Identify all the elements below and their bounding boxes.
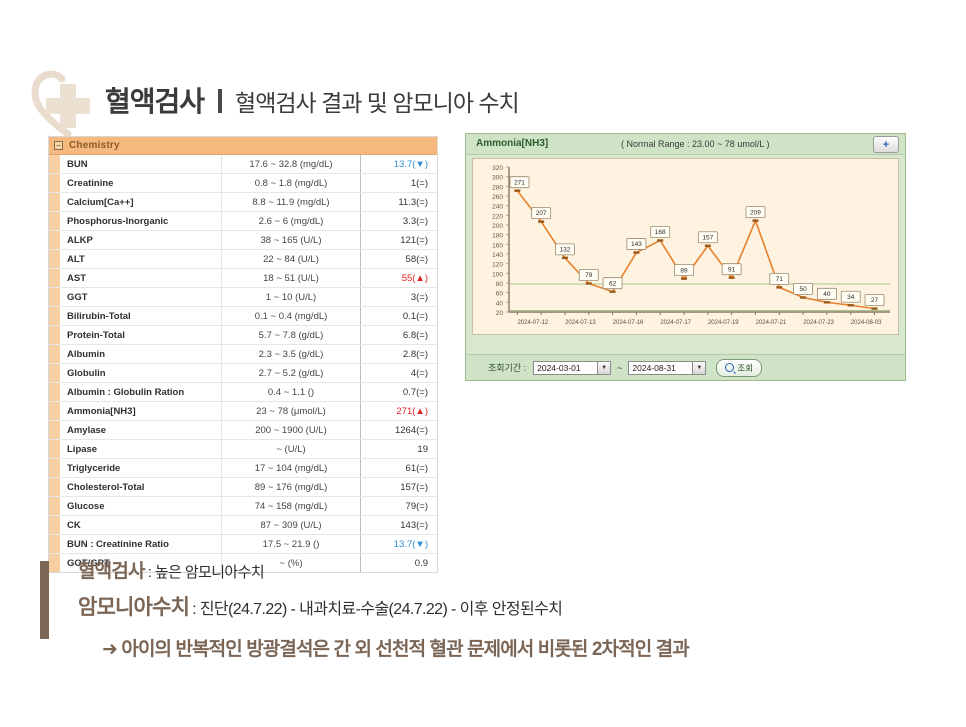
heart-cross-icon bbox=[30, 66, 106, 138]
row-indent bbox=[49, 421, 60, 439]
table-row[interactable]: Cholesterol-Total89 ~ 176 (mg/dL)157(=) bbox=[49, 478, 437, 497]
svg-text:62: 62 bbox=[609, 280, 617, 287]
svg-text:2024-07-19: 2024-07-19 bbox=[708, 320, 739, 326]
reference-range: 2.6 ~ 6 (mg/dL) bbox=[222, 212, 361, 230]
svg-text:80: 80 bbox=[496, 281, 504, 288]
test-name: Glucose bbox=[60, 497, 222, 515]
row-indent bbox=[49, 402, 60, 420]
summary-line-2: 암모니아수치 : 진단(24.7.22) - 내과치료-수술(24.7.22) … bbox=[78, 591, 562, 621]
test-value: 13.7(▼) bbox=[361, 535, 437, 553]
row-indent bbox=[49, 212, 60, 230]
page-title-main: 혈액검사 bbox=[105, 80, 204, 120]
svg-text:40: 40 bbox=[496, 300, 504, 307]
table-row[interactable]: Creatinine0.8 ~ 1.8 (mg/dL)1(=) bbox=[49, 174, 437, 193]
date-to-select[interactable]: 2024-08-31 ▼ bbox=[628, 361, 706, 375]
chart-title: Ammonia[NH3] bbox=[476, 138, 548, 149]
svg-text:120: 120 bbox=[492, 262, 503, 269]
reference-range: 2.3 ~ 3.5 (g/dL) bbox=[222, 345, 361, 363]
table-row[interactable]: BUN17.6 ~ 32.8 (mg/dL)13.7(▼) bbox=[49, 155, 437, 174]
test-value: 6.8(=) bbox=[361, 326, 437, 344]
svg-text:2024-07-23: 2024-07-23 bbox=[803, 320, 834, 326]
test-value: 13.7(▼) bbox=[361, 155, 437, 173]
test-value: 1(=) bbox=[361, 174, 437, 192]
period-label: 조회기간 : bbox=[488, 361, 526, 374]
svg-text:79: 79 bbox=[585, 272, 593, 279]
ammonia-line-chart: 2040608010012014016018020022024026028030… bbox=[473, 159, 898, 334]
svg-text:20: 20 bbox=[496, 310, 504, 317]
table-row[interactable]: Albumin : Globulin Ration0.4 ~ 1.1 ()0.7… bbox=[49, 383, 437, 402]
table-row[interactable]: ALT22 ~ 84 (U/L)58(=) bbox=[49, 250, 437, 269]
search-button-label: 조회 bbox=[737, 362, 753, 374]
chart-normal-range: ( Normal Range : 23.00 ~ 78 umol/L ) bbox=[621, 139, 770, 149]
svg-text:271: 271 bbox=[514, 179, 525, 186]
reference-range: 0.1 ~ 0.4 (mg/dL) bbox=[222, 307, 361, 325]
test-value: 1264(=) bbox=[361, 421, 437, 439]
svg-text:240: 240 bbox=[492, 204, 503, 211]
test-value: 121(=) bbox=[361, 231, 437, 249]
summary-accent-bar bbox=[40, 561, 49, 639]
svg-text:207: 207 bbox=[536, 210, 547, 217]
chevron-down-icon[interactable]: ▼ bbox=[597, 362, 610, 374]
table-row[interactable]: Globulin2.7 ~ 5.2 (g/dL)4(=) bbox=[49, 364, 437, 383]
reference-range: 22 ~ 84 (U/L) bbox=[222, 250, 361, 268]
test-name: BUN bbox=[60, 155, 222, 173]
svg-text:132: 132 bbox=[560, 246, 571, 253]
chemistry-panel-title: Chemistry bbox=[69, 140, 120, 151]
chart-header: Ammonia[NH3] ( Normal Range : 23.00 ~ 78… bbox=[466, 134, 905, 155]
svg-text:2024-08-03: 2024-08-03 bbox=[851, 320, 882, 326]
reference-range: 200 ~ 1900 (U/L) bbox=[222, 421, 361, 439]
svg-text:91: 91 bbox=[728, 266, 736, 273]
reference-range: 8.8 ~ 11.9 (mg/dL) bbox=[222, 193, 361, 211]
test-name: Globulin bbox=[60, 364, 222, 382]
table-row[interactable]: Calcium[Ca++]8.8 ~ 11.9 (mg/dL)11.3(=) bbox=[49, 193, 437, 212]
summary-line-1-value: : 높은 암모니아수치 bbox=[148, 561, 264, 582]
svg-text:89: 89 bbox=[680, 267, 688, 274]
test-value: 58(=) bbox=[361, 250, 437, 268]
reference-range: 1 ~ 10 (U/L) bbox=[222, 288, 361, 306]
row-indent bbox=[49, 307, 60, 325]
search-icon bbox=[725, 363, 734, 372]
reference-range: 89 ~ 176 (mg/dL) bbox=[222, 478, 361, 496]
test-name: Cholesterol-Total bbox=[60, 478, 222, 496]
reference-range: 38 ~ 165 (U/L) bbox=[222, 231, 361, 249]
test-value: 271(▲) bbox=[361, 402, 437, 420]
test-value: 11.3(=) bbox=[361, 193, 437, 211]
row-indent bbox=[49, 497, 60, 515]
test-name: GGT bbox=[60, 288, 222, 306]
svg-text:2024-07-13: 2024-07-13 bbox=[565, 320, 596, 326]
row-indent bbox=[49, 554, 60, 572]
search-button[interactable]: 조회 bbox=[716, 359, 762, 377]
table-row[interactable]: BUN : Creatinine Ratio17.5 ~ 21.9 ()13.7… bbox=[49, 535, 437, 554]
row-indent bbox=[49, 383, 60, 401]
test-value: 3.3(=) bbox=[361, 212, 437, 230]
date-from-value: 2024-03-01 bbox=[537, 363, 580, 373]
svg-text:2024-07-16: 2024-07-16 bbox=[613, 320, 644, 326]
reference-range: 23 ~ 78 (μmol/L) bbox=[222, 402, 361, 420]
summary-line-2-value: : 진단(24.7.22) - 내과치료-수술(24.7.22) - 이후 안정… bbox=[192, 595, 562, 619]
svg-text:260: 260 bbox=[492, 194, 503, 201]
test-name: Amylase bbox=[60, 421, 222, 439]
title-divider bbox=[218, 89, 222, 113]
expand-button[interactable]: + bbox=[873, 136, 899, 153]
test-name: Bilirubin-Total bbox=[60, 307, 222, 325]
table-row[interactable]: Albumin2.3 ~ 3.5 (g/dL)2.8(=) bbox=[49, 345, 437, 364]
reference-range: ~ (U/L) bbox=[222, 440, 361, 458]
reference-range: 2.7 ~ 5.2 (g/dL) bbox=[222, 364, 361, 382]
reference-range: 74 ~ 158 (mg/dL) bbox=[222, 497, 361, 515]
test-value: 3(=) bbox=[361, 288, 437, 306]
svg-text:2024-07-21: 2024-07-21 bbox=[756, 320, 787, 326]
chemistry-panel: − Chemistry BUN17.6 ~ 32.8 (mg/dL)13.7(▼… bbox=[48, 136, 438, 573]
test-value: 0.7(=) bbox=[361, 383, 437, 401]
reference-range: 17.5 ~ 21.9 () bbox=[222, 535, 361, 553]
test-value: 55(▲) bbox=[361, 269, 437, 287]
svg-text:60: 60 bbox=[496, 291, 504, 298]
svg-text:50: 50 bbox=[799, 286, 807, 293]
svg-text:40: 40 bbox=[823, 291, 831, 298]
reference-range: 18 ~ 51 (U/L) bbox=[222, 269, 361, 287]
row-indent bbox=[49, 516, 60, 534]
row-indent bbox=[49, 288, 60, 306]
svg-text:320: 320 bbox=[492, 165, 503, 172]
test-value: 157(=) bbox=[361, 478, 437, 496]
test-name: BUN : Creatinine Ratio bbox=[60, 535, 222, 553]
table-row[interactable]: Bilirubin-Total0.1 ~ 0.4 (mg/dL)0.1(=) bbox=[49, 307, 437, 326]
table-row[interactable]: Phosphorus-Inorganic2.6 ~ 6 (mg/dL)3.3(=… bbox=[49, 212, 437, 231]
reference-range: 17 ~ 104 (mg/dL) bbox=[222, 459, 361, 477]
svg-text:2024-07-17: 2024-07-17 bbox=[660, 320, 691, 326]
row-indent bbox=[49, 440, 60, 458]
row-indent bbox=[49, 155, 60, 173]
table-row[interactable]: Amylase200 ~ 1900 (U/L)1264(=) bbox=[49, 421, 437, 440]
test-value: 143(=) bbox=[361, 516, 437, 534]
svg-text:168: 168 bbox=[655, 229, 666, 236]
table-row[interactable]: ALKP38 ~ 165 (U/L)121(=) bbox=[49, 231, 437, 250]
test-value: 0.1(=) bbox=[361, 307, 437, 325]
test-name: Albumin : Globulin Ration bbox=[60, 383, 222, 401]
table-row[interactable]: CK87 ~ 309 (U/L)143(=) bbox=[49, 516, 437, 535]
plus-icon: + bbox=[883, 140, 889, 150]
table-row[interactable]: AST18 ~ 51 (U/L)55(▲) bbox=[49, 269, 437, 288]
summary-line-1-key: 혈액검사 bbox=[78, 556, 145, 583]
row-indent bbox=[49, 535, 60, 553]
chevron-down-icon[interactable]: ▼ bbox=[692, 362, 705, 374]
ammonia-chart-panel: Ammonia[NH3] ( Normal Range : 23.00 ~ 78… bbox=[465, 133, 906, 381]
svg-text:27: 27 bbox=[871, 297, 879, 304]
svg-text:157: 157 bbox=[702, 234, 713, 241]
summary-conclusion: ➜ 아이의 반복적인 방광결석은 간 외 선천적 혈관 문제에서 비롯된 2차적… bbox=[102, 634, 689, 661]
svg-text:100: 100 bbox=[492, 271, 503, 278]
row-indent bbox=[49, 231, 60, 249]
row-indent bbox=[49, 269, 60, 287]
date-separator: ~ bbox=[617, 363, 622, 373]
test-name: Triglyceride bbox=[60, 459, 222, 477]
date-to-value: 2024-08-31 bbox=[632, 363, 675, 373]
test-name: ALKP bbox=[60, 231, 222, 249]
test-name: Albumin bbox=[60, 345, 222, 363]
table-row[interactable]: Ammonia[NH3]23 ~ 78 (μmol/L)271(▲) bbox=[49, 402, 437, 421]
svg-text:143: 143 bbox=[631, 241, 642, 248]
reference-range: 5.7 ~ 7.8 (g/dL) bbox=[222, 326, 361, 344]
test-name: AST bbox=[60, 269, 222, 287]
table-row[interactable]: GGT1 ~ 10 (U/L)3(=) bbox=[49, 288, 437, 307]
table-row[interactable]: Protein-Total5.7 ~ 7.8 (g/dL)6.8(=) bbox=[49, 326, 437, 345]
reference-range: 0.8 ~ 1.8 (mg/dL) bbox=[222, 174, 361, 192]
svg-text:180: 180 bbox=[492, 233, 503, 240]
svg-text:160: 160 bbox=[492, 242, 503, 249]
svg-text:300: 300 bbox=[492, 175, 503, 182]
test-name: CK bbox=[60, 516, 222, 534]
reference-range: 0.4 ~ 1.1 () bbox=[222, 383, 361, 401]
test-value: 2.8(=) bbox=[361, 345, 437, 363]
summary-line-2-key: 암모니아수치 bbox=[78, 591, 189, 621]
test-value: 4(=) bbox=[361, 364, 437, 382]
row-indent bbox=[49, 345, 60, 363]
row-indent bbox=[49, 193, 60, 211]
test-value: 79(=) bbox=[361, 497, 437, 515]
row-indent bbox=[49, 478, 60, 496]
page-header: 혈액검사 혈액검사 결과 및 암모니아 수치 bbox=[0, 28, 966, 108]
svg-text:209: 209 bbox=[750, 209, 761, 216]
row-indent bbox=[49, 174, 60, 192]
table-row[interactable]: Triglyceride17 ~ 104 (mg/dL)61(=) bbox=[49, 459, 437, 478]
test-value: 61(=) bbox=[361, 459, 437, 477]
svg-text:140: 140 bbox=[492, 252, 503, 259]
collapse-icon[interactable]: − bbox=[54, 141, 63, 150]
svg-text:280: 280 bbox=[492, 184, 503, 191]
test-value: 19 bbox=[361, 440, 437, 458]
table-row[interactable]: Glucose74 ~ 158 (mg/dL)79(=) bbox=[49, 497, 437, 516]
reference-range: 87 ~ 309 (U/L) bbox=[222, 516, 361, 534]
page-title: 혈액검사 혈액검사 결과 및 암모니아 수치 bbox=[105, 80, 519, 120]
summary-lines: 혈액검사 : 높은 암모니아수치 암모니아수치 : 진단(24.7.22) - … bbox=[78, 556, 562, 621]
summary-line-1: 혈액검사 : 높은 암모니아수치 bbox=[78, 556, 562, 583]
date-from-select[interactable]: 2024-03-01 ▼ bbox=[533, 361, 611, 375]
test-name: Ammonia[NH3] bbox=[60, 402, 222, 420]
chemistry-table-body: BUN17.6 ~ 32.8 (mg/dL)13.7(▼)Creatinine0… bbox=[49, 155, 437, 572]
test-name: Lipase bbox=[60, 440, 222, 458]
chart-plot-area: 2040608010012014016018020022024026028030… bbox=[472, 158, 899, 335]
reference-range: 17.6 ~ 32.8 (mg/dL) bbox=[222, 155, 361, 173]
test-name: Calcium[Ca++] bbox=[60, 193, 222, 211]
test-name: ALT bbox=[60, 250, 222, 268]
test-name: Creatinine bbox=[60, 174, 222, 192]
table-row[interactable]: Lipase~ (U/L)19 bbox=[49, 440, 437, 459]
row-indent bbox=[49, 326, 60, 344]
page-title-sub: 혈액검사 결과 및 암모니아 수치 bbox=[235, 84, 519, 118]
svg-text:71: 71 bbox=[776, 276, 784, 283]
row-indent bbox=[49, 364, 60, 382]
svg-text:2024-07-12: 2024-07-12 bbox=[517, 320, 548, 326]
test-name: Protein-Total bbox=[60, 326, 222, 344]
chart-query-bar: 조회기간 : 2024-03-01 ▼ ~ 2024-08-31 ▼ 조회 bbox=[466, 354, 905, 380]
svg-text:34: 34 bbox=[847, 294, 855, 301]
row-indent bbox=[49, 250, 60, 268]
svg-text:200: 200 bbox=[492, 223, 503, 230]
row-indent bbox=[49, 459, 60, 477]
svg-text:220: 220 bbox=[492, 213, 503, 220]
chemistry-panel-header[interactable]: − Chemistry bbox=[49, 137, 437, 155]
test-name: Phosphorus-Inorganic bbox=[60, 212, 222, 230]
